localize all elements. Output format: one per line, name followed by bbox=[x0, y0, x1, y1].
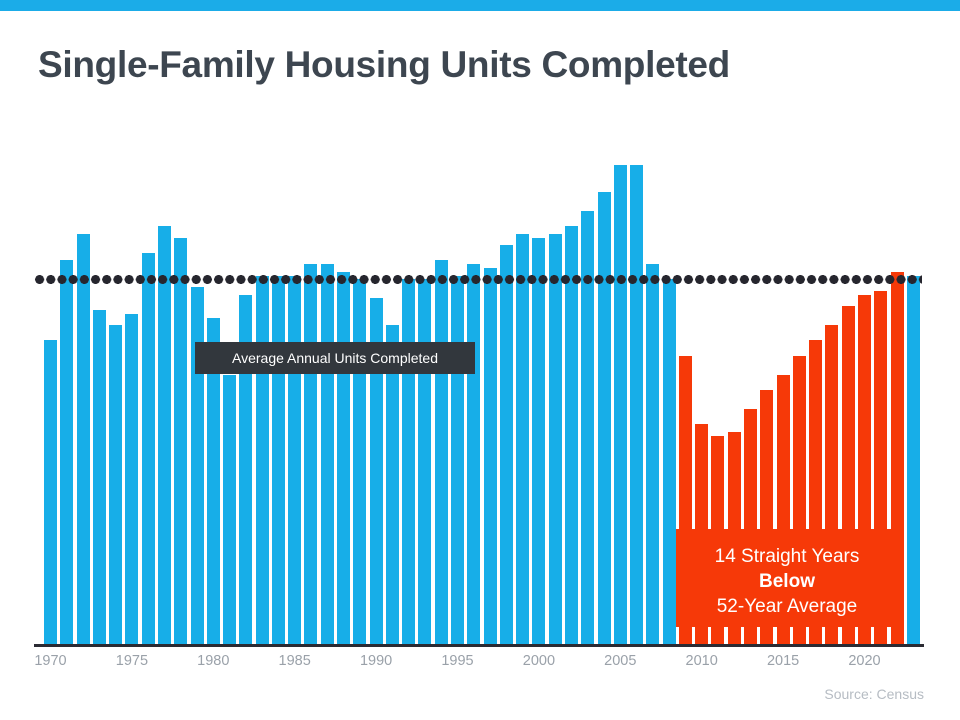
bar-1992 bbox=[402, 279, 415, 645]
bar-chart: 1970197519801985199019952000200520102015… bbox=[0, 0, 960, 720]
bar-1976 bbox=[142, 253, 155, 645]
bar-2023 bbox=[907, 276, 920, 645]
x-tick-2020: 2020 bbox=[835, 653, 895, 669]
bar-1989 bbox=[353, 279, 366, 645]
x-tick-1990: 1990 bbox=[346, 653, 406, 669]
bar-1978 bbox=[174, 238, 187, 645]
bar-2000 bbox=[532, 238, 545, 645]
bar-2002 bbox=[565, 226, 578, 645]
bar-1977 bbox=[158, 226, 171, 645]
highlight-callout-panel: 14 Straight Years Below 52-Year Average bbox=[676, 529, 898, 627]
x-tick-1985: 1985 bbox=[265, 653, 325, 669]
bar-1973 bbox=[93, 310, 106, 645]
x-tick-2005: 2005 bbox=[590, 653, 650, 669]
bar-1981 bbox=[223, 375, 236, 645]
bar-2007 bbox=[646, 264, 659, 645]
bar-1972 bbox=[77, 234, 90, 645]
x-axis-baseline bbox=[34, 644, 924, 647]
x-tick-2000: 2000 bbox=[509, 653, 569, 669]
bar-1986 bbox=[304, 264, 317, 645]
bar-1998 bbox=[500, 245, 513, 645]
bar-1995 bbox=[451, 276, 464, 645]
x-tick-2015: 2015 bbox=[753, 653, 813, 669]
bar-1997 bbox=[484, 268, 497, 645]
bar-1996 bbox=[467, 264, 480, 645]
bar-1983 bbox=[256, 276, 269, 645]
x-tick-1980: 1980 bbox=[183, 653, 243, 669]
bar-2006 bbox=[630, 165, 643, 645]
highlight-callout-line-1: 14 Straight Years bbox=[676, 546, 898, 568]
bar-2008 bbox=[663, 279, 676, 645]
x-tick-1995: 1995 bbox=[428, 653, 488, 669]
bar-1987 bbox=[321, 264, 334, 645]
bar-1970 bbox=[44, 340, 57, 645]
average-line-label-box: Average Annual Units Completed bbox=[195, 342, 475, 374]
bar-1993 bbox=[418, 279, 431, 645]
highlight-callout-line-3: 52-Year Average bbox=[676, 596, 898, 618]
bar-1994 bbox=[435, 260, 448, 645]
source-note: Source: Census bbox=[824, 686, 924, 702]
bar-1988 bbox=[337, 272, 350, 645]
x-tick-1970: 1970 bbox=[21, 653, 81, 669]
bar-2001 bbox=[549, 234, 562, 645]
x-tick-1975: 1975 bbox=[102, 653, 162, 669]
x-tick-2010: 2010 bbox=[672, 653, 732, 669]
bar-2004 bbox=[598, 192, 611, 645]
bar-1999 bbox=[516, 234, 529, 645]
bar-1979 bbox=[191, 287, 204, 645]
average-line-label-text: Average Annual Units Completed bbox=[195, 342, 475, 374]
bar-2005 bbox=[614, 165, 627, 645]
bar-1974 bbox=[109, 325, 122, 645]
bar-1985 bbox=[288, 276, 301, 645]
average-reference-line bbox=[34, 275, 922, 284]
bar-1975 bbox=[125, 314, 138, 645]
bar-1971 bbox=[60, 260, 73, 645]
bar-1984 bbox=[272, 276, 285, 645]
highlight-callout-line-2: Below bbox=[676, 571, 898, 593]
